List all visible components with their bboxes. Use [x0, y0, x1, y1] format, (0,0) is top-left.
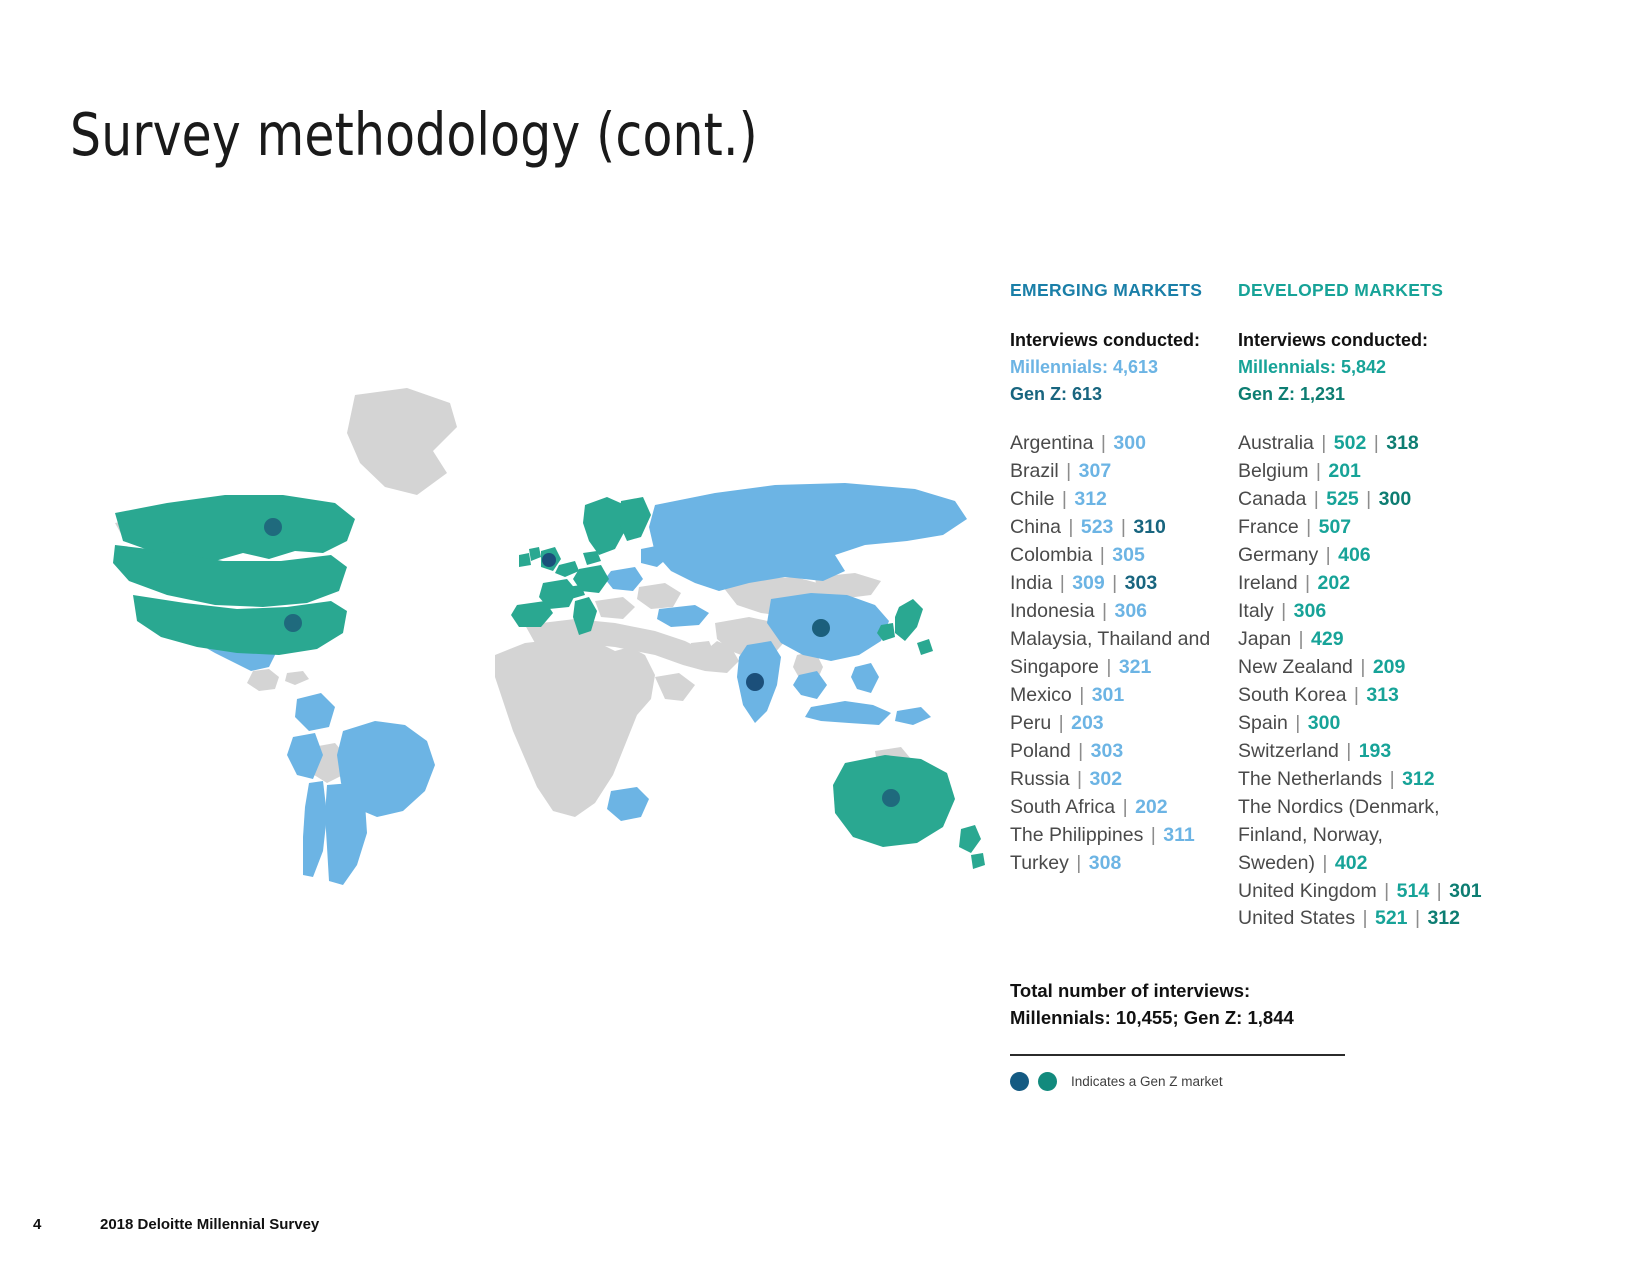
country-name: The Philippines: [1010, 824, 1143, 846]
list-item: Germany | 406: [1238, 542, 1530, 570]
page-number: 4: [33, 1216, 100, 1233]
separator: |: [1314, 432, 1334, 454]
list-item: Australia | 502 | 318: [1238, 430, 1530, 458]
separator: |: [1291, 628, 1311, 650]
millennial-count: 202: [1318, 572, 1351, 594]
list-item: China | 523 | 310: [1010, 514, 1238, 542]
separator: |: [1346, 684, 1366, 706]
genz-dot-canada: [264, 518, 282, 536]
country-name: South Korea: [1238, 684, 1346, 706]
millennial-count: 514: [1397, 880, 1430, 902]
country-name: Italy: [1238, 600, 1274, 622]
list-item: Turkey | 308: [1010, 850, 1238, 878]
markets-columns: EMERGING MARKETS Interviews conducted: M…: [1010, 280, 1530, 933]
legend-label: Indicates a Gen Z market: [1071, 1074, 1223, 1089]
millennial-count: 523: [1081, 516, 1114, 538]
separator: |: [1072, 684, 1092, 706]
genz-count: 301: [1449, 880, 1482, 902]
footer-title: 2018 Deloitte Millennial Survey: [100, 1216, 319, 1233]
genz-dot-united-states: [284, 614, 302, 632]
divider-line: [1010, 1054, 1345, 1056]
separator: |: [1059, 460, 1079, 482]
millennial-count: 203: [1071, 712, 1104, 734]
separator: |: [1061, 516, 1081, 538]
list-item: Finland, Norway,: [1238, 822, 1530, 850]
country-name: Ireland: [1238, 572, 1298, 594]
millennial-count: 202: [1135, 796, 1168, 818]
list-item: India | 309 | 303: [1010, 570, 1238, 598]
separator: |: [1288, 712, 1308, 734]
country-name: Germany: [1238, 544, 1318, 566]
separator: |: [1051, 712, 1071, 734]
separator: |: [1099, 656, 1119, 678]
developed-millennials-count: Millennials: 5,842: [1238, 354, 1530, 381]
list-item: Malaysia, Thailand and: [1010, 626, 1238, 654]
country-name: Japan: [1238, 628, 1291, 650]
millennial-count: 201: [1328, 460, 1361, 482]
genz-dot-australia: [882, 789, 900, 807]
millennial-count: 312: [1402, 768, 1435, 790]
millennial-count: 525: [1326, 488, 1359, 510]
separator: |: [1274, 600, 1294, 622]
country-name: Sweden): [1238, 852, 1315, 874]
genz-count: 310: [1133, 516, 1166, 538]
separator: |: [1408, 907, 1428, 929]
country-name: India: [1010, 572, 1052, 594]
separator: |: [1308, 460, 1328, 482]
list-item: South Korea | 313: [1238, 682, 1530, 710]
separator: |: [1113, 516, 1133, 538]
developed-country-list: Australia | 502 | 318Belgium | 201Canada…: [1238, 430, 1530, 933]
list-item: Ireland | 202: [1238, 570, 1530, 598]
separator: |: [1105, 572, 1125, 594]
separator: |: [1298, 572, 1318, 594]
list-item: Brazil | 307: [1010, 458, 1238, 486]
country-name: Finland, Norway,: [1238, 824, 1383, 846]
genz-legend: Indicates a Gen Z market: [1010, 1072, 1530, 1091]
list-item: Belgium | 201: [1238, 458, 1530, 486]
separator: |: [1429, 880, 1449, 902]
millennial-count: 209: [1373, 656, 1406, 678]
legend-navy-dot-icon: [1010, 1072, 1029, 1091]
emerging-millennials-count: Millennials: 4,613: [1010, 354, 1238, 381]
millennial-count: 313: [1366, 684, 1399, 706]
country-name: The Netherlands: [1238, 768, 1382, 790]
list-item: The Nordics (Denmark,: [1238, 794, 1530, 822]
list-item: Mexico | 301: [1010, 682, 1238, 710]
millennial-count: 308: [1089, 852, 1122, 874]
legend-teal-dot-icon: [1038, 1072, 1057, 1091]
millennial-count: 307: [1079, 460, 1112, 482]
genz-count: 318: [1386, 432, 1419, 454]
millennial-count: 300: [1113, 432, 1146, 454]
separator: |: [1339, 740, 1359, 762]
list-item: New Zealand | 209: [1238, 654, 1530, 682]
country-name: Spain: [1238, 712, 1288, 734]
millennial-count: 402: [1335, 852, 1368, 874]
country-name: Poland: [1010, 740, 1071, 762]
list-item: The Philippines | 311: [1010, 822, 1238, 850]
millennial-count: 406: [1338, 544, 1371, 566]
millennial-count: 429: [1311, 628, 1344, 650]
list-item: Spain | 300: [1238, 710, 1530, 738]
country-name: France: [1238, 516, 1299, 538]
emerging-markets-header: EMERGING MARKETS: [1010, 280, 1238, 301]
list-item: Singapore | 321: [1010, 654, 1238, 682]
separator: |: [1299, 516, 1319, 538]
country-name: United Kingdom: [1238, 880, 1377, 902]
totals-label: Total number of interviews:: [1010, 978, 1530, 1005]
separator: |: [1355, 907, 1375, 929]
developed-markets-column: DEVELOPED MARKETS Interviews conducted: …: [1238, 280, 1530, 933]
country-name: Belgium: [1238, 460, 1308, 482]
emerging-interviews-label: Interviews conducted:: [1010, 327, 1238, 354]
millennial-count: 193: [1359, 740, 1392, 762]
list-item: Colombia | 305: [1010, 542, 1238, 570]
genz-count: 303: [1125, 572, 1158, 594]
list-item: The Netherlands | 312: [1238, 766, 1530, 794]
separator: |: [1306, 488, 1326, 510]
country-name: New Zealand: [1238, 656, 1353, 678]
separator: |: [1115, 796, 1135, 818]
country-name: Mexico: [1010, 684, 1072, 706]
separator: |: [1318, 544, 1338, 566]
list-item: Poland | 303: [1010, 738, 1238, 766]
separator: |: [1052, 572, 1072, 594]
separator: |: [1359, 488, 1379, 510]
separator: |: [1071, 740, 1091, 762]
separator: |: [1069, 852, 1089, 874]
list-item: Russia | 302: [1010, 766, 1238, 794]
country-name: Chile: [1010, 488, 1054, 510]
list-item: Indonesia | 306: [1010, 598, 1238, 626]
list-item: United States | 521 | 312: [1238, 905, 1530, 933]
separator: |: [1092, 544, 1112, 566]
list-item: Italy | 306: [1238, 598, 1530, 626]
millennial-count: 300: [1308, 712, 1341, 734]
country-name: Russia: [1010, 768, 1070, 790]
millennial-count: 312: [1074, 488, 1107, 510]
genz-dot-china: [812, 619, 830, 637]
millennial-count: 302: [1090, 768, 1123, 790]
millennial-count: 309: [1072, 572, 1105, 594]
separator: |: [1315, 852, 1335, 874]
totals-values: Millennials: 10,455; Gen Z: 1,844: [1010, 1005, 1530, 1032]
country-name: Singapore: [1010, 656, 1099, 678]
footer: 4 2018 Deloitte Millennial Survey: [33, 1216, 319, 1233]
country-name: Peru: [1010, 712, 1051, 734]
world-map: [55, 355, 985, 915]
country-name: The Nordics (Denmark,: [1238, 796, 1440, 818]
genz-dot-india: [746, 673, 764, 691]
emerging-interviews-summary: Interviews conducted: Millennials: 4,613…: [1010, 327, 1238, 408]
list-item: Argentina | 300: [1010, 430, 1238, 458]
millennial-count: 321: [1119, 656, 1152, 678]
genz-dot-united-kingdom: [542, 553, 556, 567]
millennial-count: 306: [1294, 600, 1327, 622]
country-name: Brazil: [1010, 460, 1059, 482]
country-name: Switzerland: [1238, 740, 1339, 762]
list-item: Peru | 203: [1010, 710, 1238, 738]
list-item: Switzerland | 193: [1238, 738, 1530, 766]
list-item: France | 507: [1238, 514, 1530, 542]
millennial-count: 502: [1334, 432, 1367, 454]
world-map-svg: [55, 355, 985, 915]
millennial-count: 507: [1319, 516, 1352, 538]
millennial-count: 311: [1163, 824, 1194, 846]
millennial-count: 305: [1112, 544, 1145, 566]
separator: |: [1054, 488, 1074, 510]
country-name: South Africa: [1010, 796, 1115, 818]
genz-count: 312: [1427, 907, 1460, 929]
list-item: Chile | 312: [1010, 486, 1238, 514]
page-title: Survey methodology (cont.): [70, 104, 758, 166]
list-item: United Kingdom | 514 | 301: [1238, 878, 1530, 906]
country-name: Argentina: [1010, 432, 1093, 454]
country-name: China: [1010, 516, 1061, 538]
millennial-count: 303: [1091, 740, 1124, 762]
country-name: Malaysia, Thailand and: [1010, 628, 1210, 650]
millennial-count: 306: [1114, 600, 1147, 622]
developed-interviews-label: Interviews conducted:: [1238, 327, 1530, 354]
emerging-country-list: Argentina | 300Brazil | 307Chile | 312Ch…: [1010, 430, 1238, 878]
list-item: Japan | 429: [1238, 626, 1530, 654]
separator: |: [1070, 768, 1090, 790]
developed-interviews-summary: Interviews conducted: Millennials: 5,842…: [1238, 327, 1530, 408]
separator: |: [1377, 880, 1397, 902]
genz-count: 300: [1379, 488, 1412, 510]
emerging-markets-column: EMERGING MARKETS Interviews conducted: M…: [1010, 280, 1238, 878]
emerging-genz-count: Gen Z: 613: [1010, 381, 1238, 408]
separator: |: [1382, 768, 1402, 790]
separator: |: [1095, 600, 1115, 622]
separator: |: [1366, 432, 1386, 454]
markets-panel: EMERGING MARKETS Interviews conducted: M…: [1010, 280, 1530, 1091]
country-name: United States: [1238, 907, 1355, 929]
millennial-count: 301: [1092, 684, 1125, 706]
country-name: Indonesia: [1010, 600, 1095, 622]
list-item: South Africa | 202: [1010, 794, 1238, 822]
millennial-count: 521: [1375, 907, 1408, 929]
developed-genz-count: Gen Z: 1,231: [1238, 381, 1530, 408]
list-item: Sweden) | 402: [1238, 850, 1530, 878]
list-item: Canada | 525 | 300: [1238, 486, 1530, 514]
country-name: Turkey: [1010, 852, 1069, 874]
developed-markets-header: DEVELOPED MARKETS: [1238, 280, 1530, 301]
separator: |: [1143, 824, 1163, 846]
totals-block: Total number of interviews: Millennials:…: [1010, 978, 1530, 1032]
country-name: Canada: [1238, 488, 1306, 510]
country-name: Australia: [1238, 432, 1314, 454]
country-name: Colombia: [1010, 544, 1092, 566]
separator: |: [1353, 656, 1373, 678]
separator: |: [1093, 432, 1113, 454]
